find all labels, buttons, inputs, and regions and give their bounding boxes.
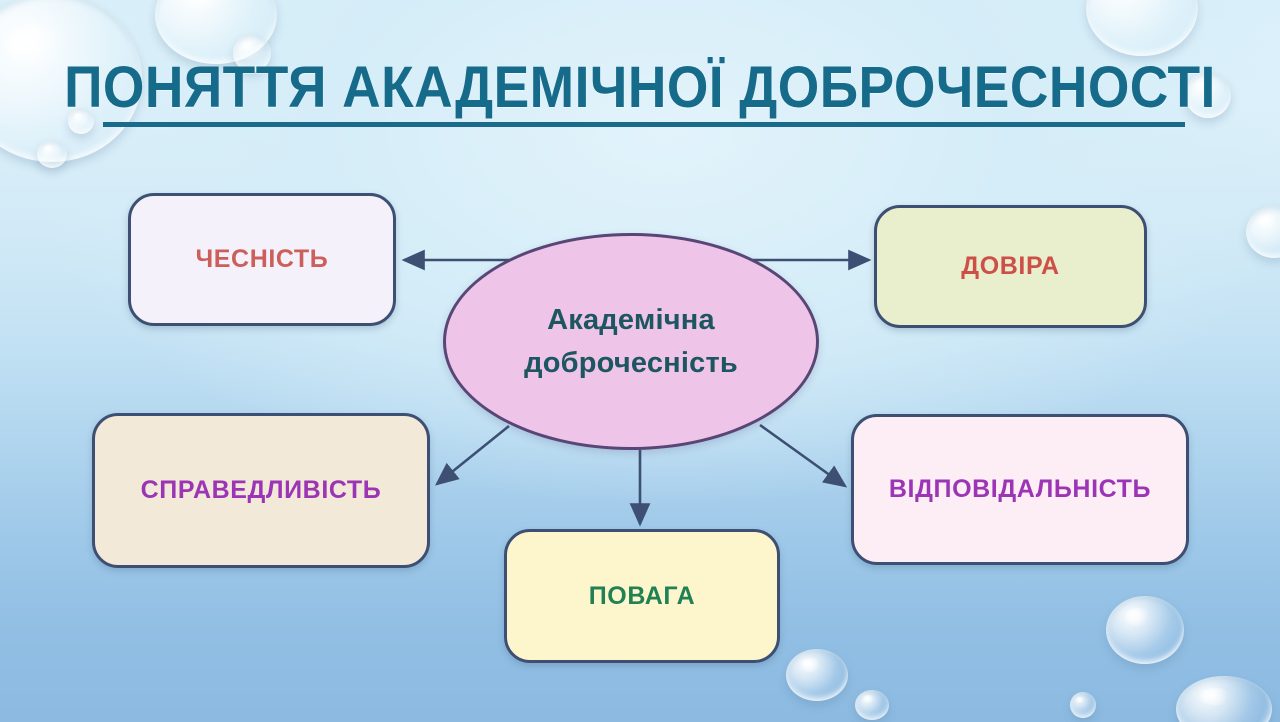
arrow-to-fairness <box>437 426 509 484</box>
center-node-line1: Академічна <box>547 299 715 341</box>
node-honesty[interactable]: ЧЕСНІСТЬ <box>128 193 396 326</box>
node-fairness-label: СПРАВЕДЛИВІСТЬ <box>141 476 382 505</box>
node-trust[interactable]: ДОВІРА <box>874 205 1147 328</box>
node-fairness[interactable]: СПРАВЕДЛИВІСТЬ <box>92 413 430 568</box>
node-respect-label: ПОВАГА <box>589 582 696 611</box>
arrow-to-responsibility <box>760 425 845 486</box>
node-responsibility[interactable]: ВІДПОВІДАЛЬНІСТЬ <box>851 414 1189 565</box>
slide-canvas: ПОНЯТТЯ АКАДЕМІЧНОЇ ДОБРОЧЕСНОСТІ Академ… <box>0 0 1280 722</box>
node-respect[interactable]: ПОВАГА <box>504 529 780 663</box>
center-node-line2: доброчесність <box>524 342 738 384</box>
node-honesty-label: ЧЕСНІСТЬ <box>196 245 329 274</box>
center-node-academic-integrity[interactable]: Академічна доброчесність <box>443 233 819 450</box>
node-responsibility-label: ВІДПОВІДАЛЬНІСТЬ <box>889 475 1151 504</box>
node-trust-label: ДОВІРА <box>961 252 1059 281</box>
